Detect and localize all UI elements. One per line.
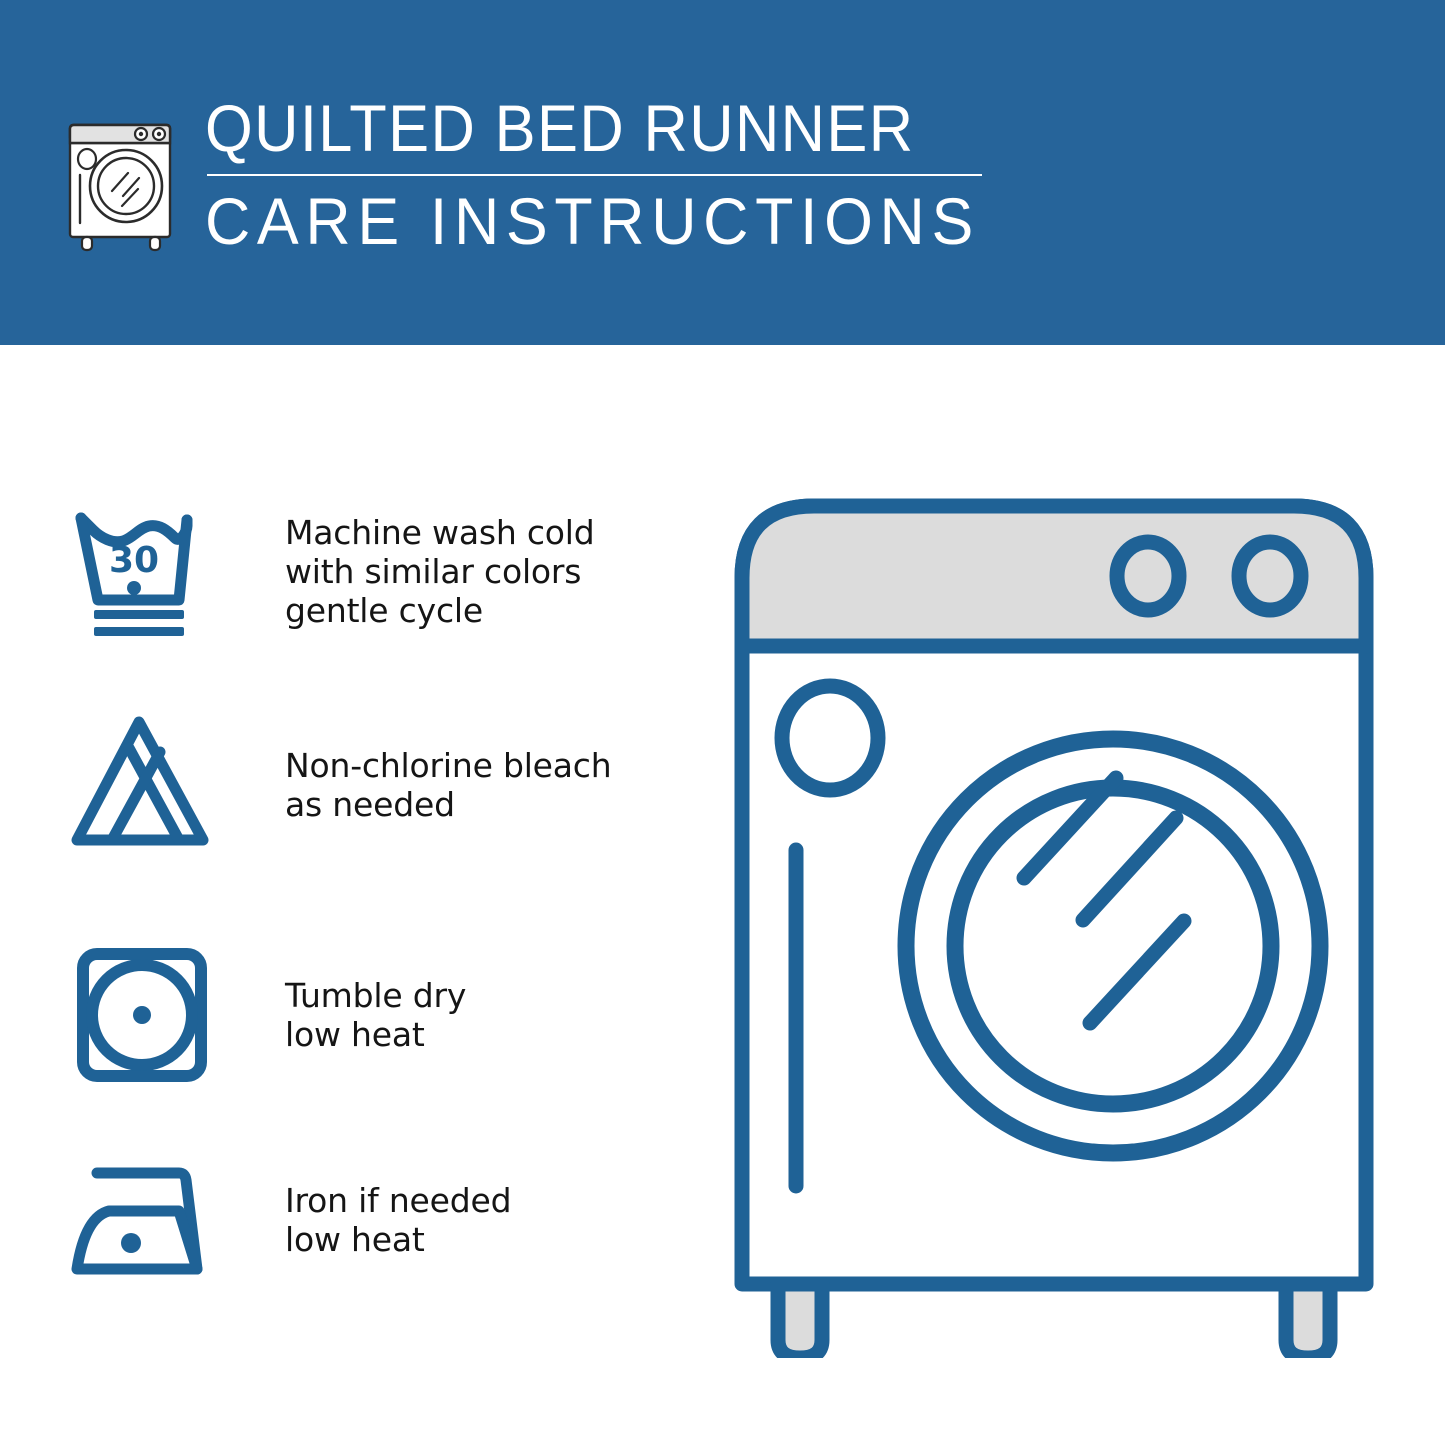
front-load-washing-machine-illustration (718, 478, 1390, 1358)
door-inner-ring (955, 788, 1271, 1104)
page-subtitle: CARE INSTRUCTIONS (205, 184, 965, 258)
page-header: QUILTED BED RUNNER CARE INSTRUCTIONS (0, 0, 1445, 345)
care-row-tumble-dry: Tumble dry low heat (62, 945, 662, 1085)
care-text-iron: Iron if needed low heat (285, 1181, 511, 1259)
tumble-dry-square-one-dot-icon (62, 940, 222, 1090)
care-line: with similar colors (285, 552, 595, 591)
washing-machine-logo-icon (62, 103, 184, 253)
care-line: Iron if needed (285, 1181, 511, 1220)
iron-one-dot-icon (62, 1145, 222, 1295)
title-divider (207, 174, 982, 176)
header-title-block: QUILTED BED RUNNER CARE INSTRUCTIONS (205, 92, 1005, 258)
care-line: low heat (285, 1220, 511, 1259)
care-line: low heat (285, 1015, 466, 1054)
detergent-drawer-circle (782, 686, 878, 790)
care-row-iron: Iron if needed low heat (62, 1150, 662, 1290)
care-text-bleach: Non-chlorine bleach as needed (285, 746, 611, 824)
care-text-machine-wash: Machine wash cold with similar colors ge… (285, 513, 595, 630)
bleach-triangle-stripes-icon (62, 710, 222, 860)
care-line: Tumble dry (285, 976, 466, 1015)
care-line: Machine wash cold (285, 513, 595, 552)
care-line: as needed (285, 785, 611, 824)
care-text-tumble-dry: Tumble dry low heat (285, 976, 466, 1054)
leg-left (778, 1284, 822, 1358)
wash-temperature-label: 30 (109, 540, 159, 581)
page-title: QUILTED BED RUNNER (205, 92, 949, 164)
care-instructions-page: QUILTED BED RUNNER CARE INSTRUCTIONS 30 … (0, 0, 1445, 1445)
care-line: gentle cycle (285, 591, 595, 630)
leg-right (1286, 1284, 1330, 1358)
care-row-bleach: Non-chlorine bleach as needed (62, 715, 662, 855)
care-row-machine-wash: 30 Machine wash cold with similar colors… (62, 496, 662, 646)
knob-left (1117, 542, 1179, 610)
care-line: Non-chlorine bleach (285, 746, 611, 785)
wash-tub-30-icon: 30 (62, 496, 222, 646)
knob-right (1239, 542, 1301, 610)
